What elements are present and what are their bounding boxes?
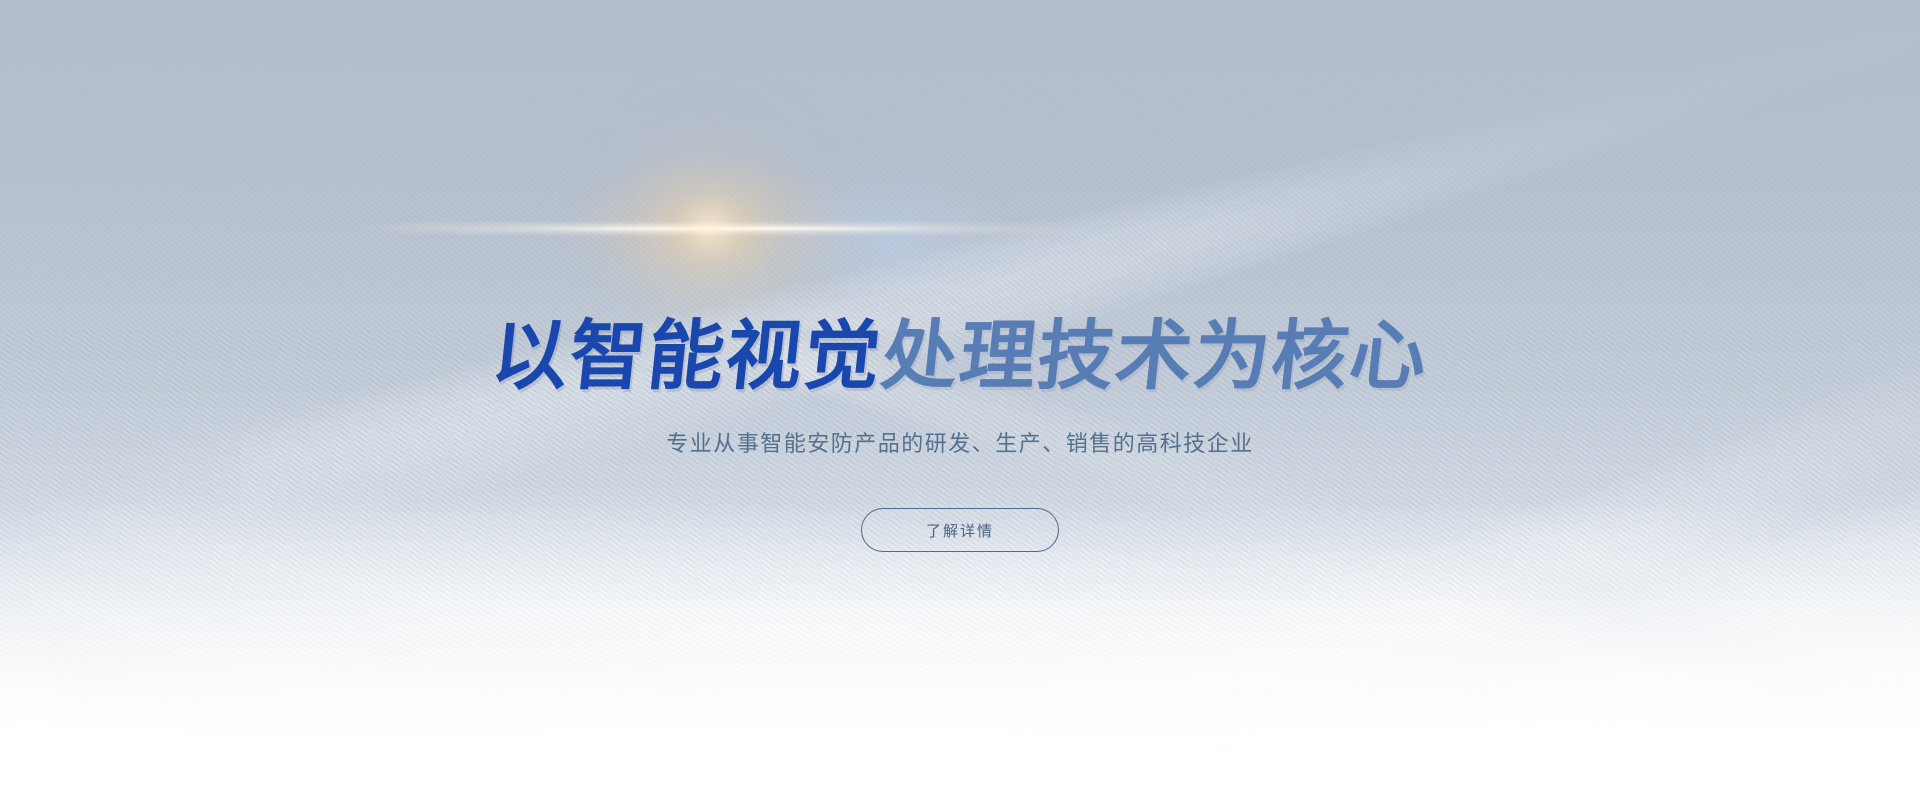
cta-container: 了解详情 [0, 508, 1920, 552]
learn-more-button[interactable]: 了解详情 [861, 508, 1059, 552]
hero-content: 以智能视觉处理技术为核心 专业从事智能安防产品的研发、生产、销售的高科技企业 了… [0, 0, 1920, 800]
headline-segment-soft: 处理技术为核心 [877, 313, 1432, 399]
page-subtitle: 专业从事智能安防产品的研发、生产、销售的高科技企业 [0, 427, 1920, 461]
page-title: 以智能视觉处理技术为核心 [0, 313, 1920, 399]
headline-segment-strong: 以智能视觉 [487, 313, 886, 399]
hero-banner: 以智能视觉处理技术为核心 专业从事智能安防产品的研发、生产、销售的高科技企业 了… [0, 0, 1920, 800]
